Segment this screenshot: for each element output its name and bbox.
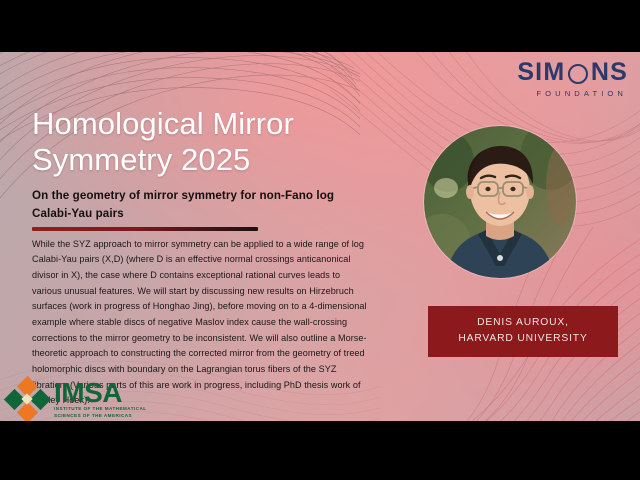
speaker-name: DENIS AUROUX, xyxy=(434,315,612,331)
simons-word-part2: NS xyxy=(591,60,628,85)
presentation-slide: SIM NS FOUNDATION Homological Mirror Sym… xyxy=(0,52,640,421)
page-title-line-1: Homological Mirror xyxy=(32,106,382,142)
letterbox-top xyxy=(0,0,640,52)
title-block: Homological Mirror Symmetry 2025 On the … xyxy=(32,106,382,409)
imsa-tagline-line-2: SCIENCES OF THE AMERICAS xyxy=(54,413,147,420)
imsa-logo: IMSA INSTITUTE OF THE MATHEMATICAL SCIEN… xyxy=(7,379,147,421)
speaker-name-banner: DENIS AUROUX, HARVARD UNIVERSITY xyxy=(428,306,618,357)
talk-subtitle: On the geometry of mirror symmetry for n… xyxy=(32,187,352,223)
simons-foundation-logo: SIM NS FOUNDATION xyxy=(517,60,628,98)
simons-wordmark: SIM NS xyxy=(517,60,628,85)
simons-foundation-subtitle: FOUNDATION xyxy=(517,89,628,98)
imsa-diamond-mark-icon xyxy=(7,379,49,421)
portrait-illustration xyxy=(424,126,576,278)
simons-circle-o-icon xyxy=(568,64,588,84)
speaker-affiliation: HARVARD UNIVERSITY xyxy=(434,331,612,347)
imsa-text-block: IMSA INSTITUTE OF THE MATHEMATICAL SCIEN… xyxy=(54,380,147,419)
imsa-wordmark: IMSA xyxy=(54,380,147,406)
video-frame: SIM NS FOUNDATION Homological Mirror Sym… xyxy=(0,0,640,480)
imsa-tagline-line-1: INSTITUTE OF THE MATHEMATICAL xyxy=(54,406,147,413)
subtitle-underline-rule xyxy=(32,227,258,231)
page-title-line-2: Symmetry 2025 xyxy=(32,142,382,178)
letterbox-bottom xyxy=(0,421,640,480)
simons-word-part1: SIM xyxy=(517,60,565,85)
speaker-portrait-avatar xyxy=(424,126,576,278)
